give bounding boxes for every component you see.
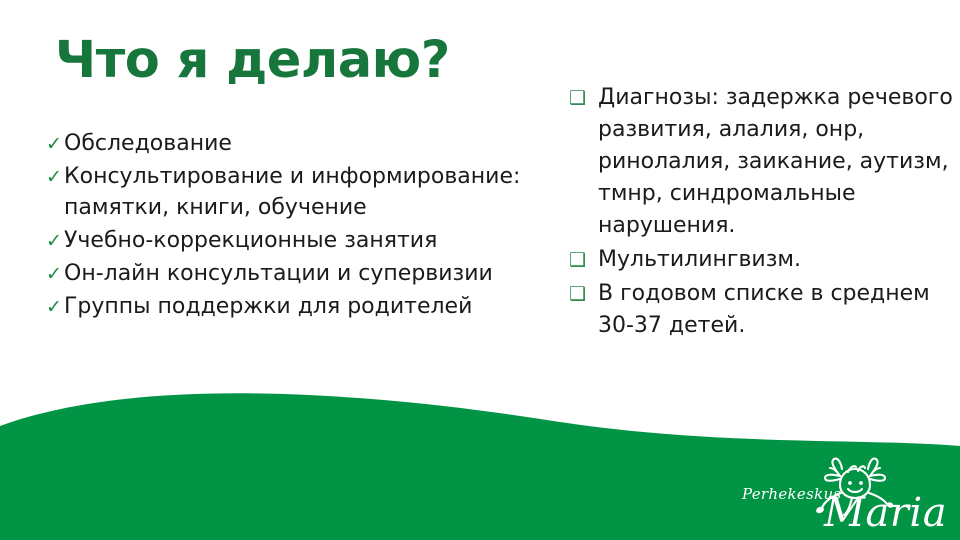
list-item-label: Мультилингвизм.	[598, 244, 956, 276]
slide-canvas: Что я делаю? ✓ Обследование ✓ Консультир…	[0, 0, 960, 540]
list-item-label: Он-лайн консультации и супервизии	[64, 258, 534, 289]
check-icon: ✓	[34, 161, 64, 187]
right-bullet-list: ❑ Диагнозы: задержка речевого развития, …	[560, 82, 956, 344]
list-item: ✓ Учебно-коррекционные занятия	[34, 225, 534, 256]
check-icon: ✓	[34, 128, 64, 154]
page-title: Что я делаю?	[55, 34, 450, 88]
square-bullet-icon: ❑	[560, 278, 598, 304]
check-icon: ✓	[34, 291, 64, 317]
logo: Perhekeskus Maria	[728, 452, 960, 540]
list-item-label: Консультирование и информирование: памят…	[64, 161, 534, 223]
list-item: ❑ В годовом списке в среднем 30-37 детей…	[560, 278, 956, 342]
list-item-label: Диагнозы: задержка речевого развития, ал…	[598, 82, 956, 242]
list-item: ✓ Группы поддержки для родителей	[34, 291, 534, 322]
list-item: ✓ Он-лайн консультации и супервизии	[34, 258, 534, 289]
list-item-label: В годовом списке в среднем 30-37 детей.	[598, 278, 956, 342]
check-icon: ✓	[34, 258, 64, 284]
list-item: ❑ Диагнозы: задержка речевого развития, …	[560, 82, 956, 242]
list-item: ❑ Мультилингвизм.	[560, 244, 956, 276]
square-bullet-icon: ❑	[560, 82, 598, 108]
check-icon: ✓	[34, 225, 64, 251]
list-item: ✓ Консультирование и информирование: пам…	[34, 161, 534, 223]
square-bullet-icon: ❑	[560, 244, 598, 270]
list-item: ✓ Обследование	[34, 128, 534, 159]
list-item-label: Обследование	[64, 128, 534, 159]
logo-name: Maria	[824, 490, 947, 536]
left-bullet-list: ✓ Обследование ✓ Консультирование и инфо…	[34, 128, 534, 324]
list-item-label: Группы поддержки для родителей	[64, 291, 534, 322]
list-item-label: Учебно-коррекционные занятия	[64, 225, 534, 256]
